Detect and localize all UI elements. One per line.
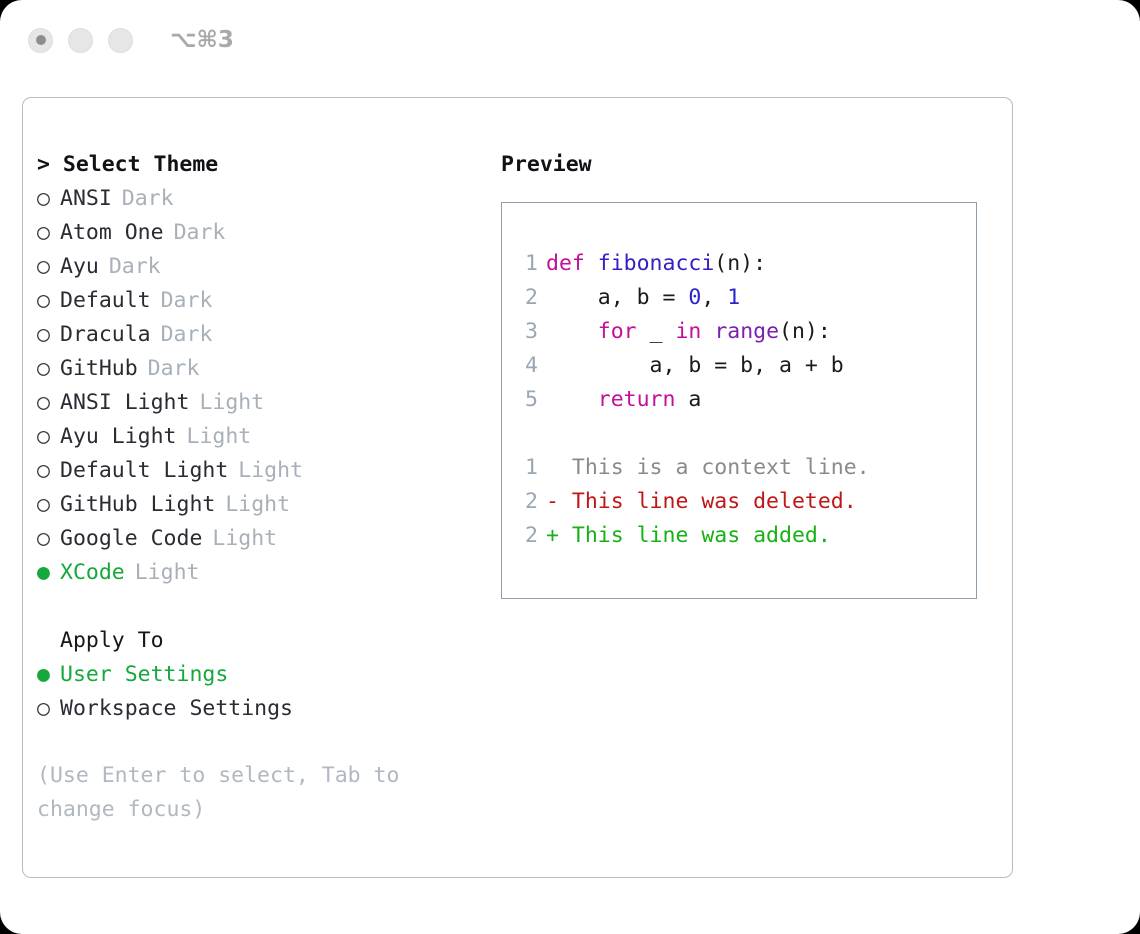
theme-variant-badge: Light bbox=[238, 458, 303, 483]
title-bar: ⌥⌘3 bbox=[0, 0, 1140, 80]
radio-unselected-icon: ○ bbox=[37, 216, 60, 250]
code-line: 4 a, b = b, a + b bbox=[516, 349, 976, 383]
theme-variant-badge: Light bbox=[212, 526, 277, 551]
theme-list-item[interactable]: ●XCodeLight bbox=[37, 556, 507, 590]
line-number: 1 bbox=[516, 247, 538, 281]
theme-list-item[interactable]: ○Default LightLight bbox=[37, 454, 507, 488]
code-line: 2 a, b = 0, 1 bbox=[516, 281, 976, 315]
diff-text: This is a context line. bbox=[546, 455, 870, 480]
diff-line: 1 This is a context line. bbox=[516, 451, 976, 485]
theme-variant-badge: Dark bbox=[109, 254, 161, 279]
code-token: return bbox=[598, 387, 676, 412]
radio-unselected-icon: ○ bbox=[37, 284, 60, 318]
window-dot-active-inner bbox=[36, 35, 46, 45]
code-token: fibonacci bbox=[598, 251, 715, 276]
code-token: a bbox=[675, 387, 701, 412]
theme-list-item[interactable]: ○AyuDark bbox=[37, 250, 507, 284]
theme-variant-badge: Dark bbox=[161, 288, 213, 313]
theme-variant-badge: Light bbox=[187, 424, 252, 449]
radio-unselected-icon: ○ bbox=[37, 692, 60, 726]
code-token: range bbox=[714, 319, 779, 344]
radio-selected-icon: ● bbox=[37, 658, 60, 692]
theme-name: Dracula bbox=[60, 322, 151, 347]
radio-unselected-icon: ○ bbox=[37, 182, 60, 216]
radio-unselected-icon: ○ bbox=[37, 250, 60, 284]
theme-name: GitHub Light bbox=[60, 492, 215, 517]
radio-unselected-icon: ○ bbox=[37, 318, 60, 352]
theme-name: Default Light bbox=[60, 458, 228, 483]
line-number: 1 bbox=[516, 451, 538, 485]
radio-unselected-icon: ○ bbox=[37, 386, 60, 420]
theme-list-item[interactable]: ○Ayu LightLight bbox=[37, 420, 507, 454]
theme-variant-badge: Dark bbox=[174, 220, 226, 245]
window-dot-active[interactable] bbox=[28, 28, 53, 53]
radio-unselected-icon: ○ bbox=[37, 454, 60, 488]
section-spacer bbox=[37, 590, 507, 624]
window-dot-3[interactable] bbox=[108, 28, 133, 53]
theme-variant-badge: Dark bbox=[161, 322, 213, 347]
radio-unselected-icon: ○ bbox=[37, 522, 60, 556]
code-token: for bbox=[598, 319, 637, 344]
code-token: def bbox=[546, 251, 598, 276]
preview-box: 1def fibonacci(n):2 a, b = 0, 13 for _ i… bbox=[501, 202, 977, 599]
diff-line: 2- This line was deleted. bbox=[516, 485, 976, 519]
keyboard-shortcut-label: ⌥⌘3 bbox=[170, 27, 234, 53]
apply-to-list: ●User Settings○Workspace Settings bbox=[37, 658, 507, 726]
theme-picker-heading: > Select Theme bbox=[37, 148, 507, 182]
theme-name: ANSI Light bbox=[60, 390, 189, 415]
radio-unselected-icon: ○ bbox=[37, 488, 60, 522]
theme-name: Ayu bbox=[60, 254, 99, 279]
theme-variant-badge: Dark bbox=[122, 186, 174, 211]
apply-to-label: Workspace Settings bbox=[60, 696, 293, 721]
radio-unselected-icon: ○ bbox=[37, 352, 60, 386]
diff-line: 2+ This line was added. bbox=[516, 519, 976, 553]
code-token: 1 bbox=[727, 285, 740, 310]
theme-name: Ayu Light bbox=[60, 424, 177, 449]
radio-unselected-icon: ○ bbox=[37, 420, 60, 454]
code-line: 5 return a bbox=[516, 383, 976, 417]
code-token bbox=[546, 319, 598, 344]
line-number: 2 bbox=[516, 519, 538, 553]
apply-to-item[interactable]: ○Workspace Settings bbox=[37, 692, 507, 726]
diff-sample: 1 This is a context line.2- This line wa… bbox=[516, 451, 976, 553]
line-number: 4 bbox=[516, 349, 538, 383]
code-diff-gap bbox=[516, 417, 976, 451]
code-token bbox=[546, 387, 598, 412]
theme-list-item[interactable]: ○ANSIDark bbox=[37, 182, 507, 216]
theme-picker-column: > Select Theme ○ANSIDark○Atom OneDark○Ay… bbox=[37, 148, 507, 827]
theme-name: Google Code bbox=[60, 526, 202, 551]
line-number: 5 bbox=[516, 383, 538, 417]
theme-list-item[interactable]: ○GitHubDark bbox=[37, 352, 507, 386]
theme-variant-badge: Dark bbox=[148, 356, 200, 381]
window-dot-2[interactable] bbox=[68, 28, 93, 53]
theme-name: Atom One bbox=[60, 220, 164, 245]
apply-to-label: User Settings bbox=[60, 662, 228, 687]
theme-name: XCode bbox=[60, 560, 125, 585]
theme-list-item[interactable]: ○DraculaDark bbox=[37, 318, 507, 352]
theme-name: ANSI bbox=[60, 186, 112, 211]
theme-variant-badge: Light bbox=[199, 390, 264, 415]
radio-selected-icon: ● bbox=[37, 556, 60, 590]
heading-prompt-chevron: > bbox=[37, 152, 63, 177]
code-token: _ bbox=[637, 319, 676, 344]
code-line: 3 for _ in range(n): bbox=[516, 315, 976, 349]
code-token: (n): bbox=[714, 251, 766, 276]
app-window: ⌥⌘3 > Select Theme ○ANSIDark○Atom OneDar… bbox=[0, 0, 1140, 934]
theme-list-item[interactable]: ○Atom OneDark bbox=[37, 216, 507, 250]
main-panel: > Select Theme ○ANSIDark○Atom OneDark○Ay… bbox=[22, 97, 1013, 878]
theme-list-item[interactable]: ○ANSI LightLight bbox=[37, 386, 507, 420]
code-token: a, b = b, a + b bbox=[546, 353, 844, 378]
apply-to-heading: Apply To bbox=[37, 624, 507, 658]
code-token: a, b = bbox=[546, 285, 688, 310]
theme-list-item[interactable]: ○GitHub LightLight bbox=[37, 488, 507, 522]
preview-title: Preview bbox=[501, 148, 1001, 182]
theme-variant-badge: Light bbox=[225, 492, 290, 517]
line-number: 2 bbox=[516, 281, 538, 315]
apply-to-item[interactable]: ●User Settings bbox=[37, 658, 507, 692]
theme-variant-badge: Light bbox=[135, 560, 200, 585]
code-sample: 1def fibonacci(n):2 a, b = 0, 13 for _ i… bbox=[516, 247, 976, 417]
code-token: 0 bbox=[688, 285, 701, 310]
code-token: , bbox=[701, 285, 727, 310]
line-number: 3 bbox=[516, 315, 538, 349]
line-number: 2 bbox=[516, 485, 538, 519]
code-line: 1def fibonacci(n): bbox=[516, 247, 976, 281]
theme-list-item[interactable]: ○DefaultDark bbox=[37, 284, 507, 318]
theme-list: ○ANSIDark○Atom OneDark○AyuDark○DefaultDa… bbox=[37, 182, 507, 590]
preview-column: Preview 1def fibonacci(n):2 a, b = 0, 13… bbox=[501, 148, 1001, 599]
code-token bbox=[701, 319, 714, 344]
diff-text: + This line was added. bbox=[546, 523, 831, 548]
code-token: (n): bbox=[779, 319, 831, 344]
theme-name: GitHub bbox=[60, 356, 138, 381]
keyboard-hint-text: (Use Enter to select, Tab to change focu… bbox=[37, 759, 457, 827]
theme-name: Default bbox=[60, 288, 151, 313]
heading-text: Select Theme bbox=[63, 152, 218, 177]
diff-text: - This line was deleted. bbox=[546, 489, 857, 514]
code-token: in bbox=[675, 319, 701, 344]
theme-list-item[interactable]: ○Google CodeLight bbox=[37, 522, 507, 556]
